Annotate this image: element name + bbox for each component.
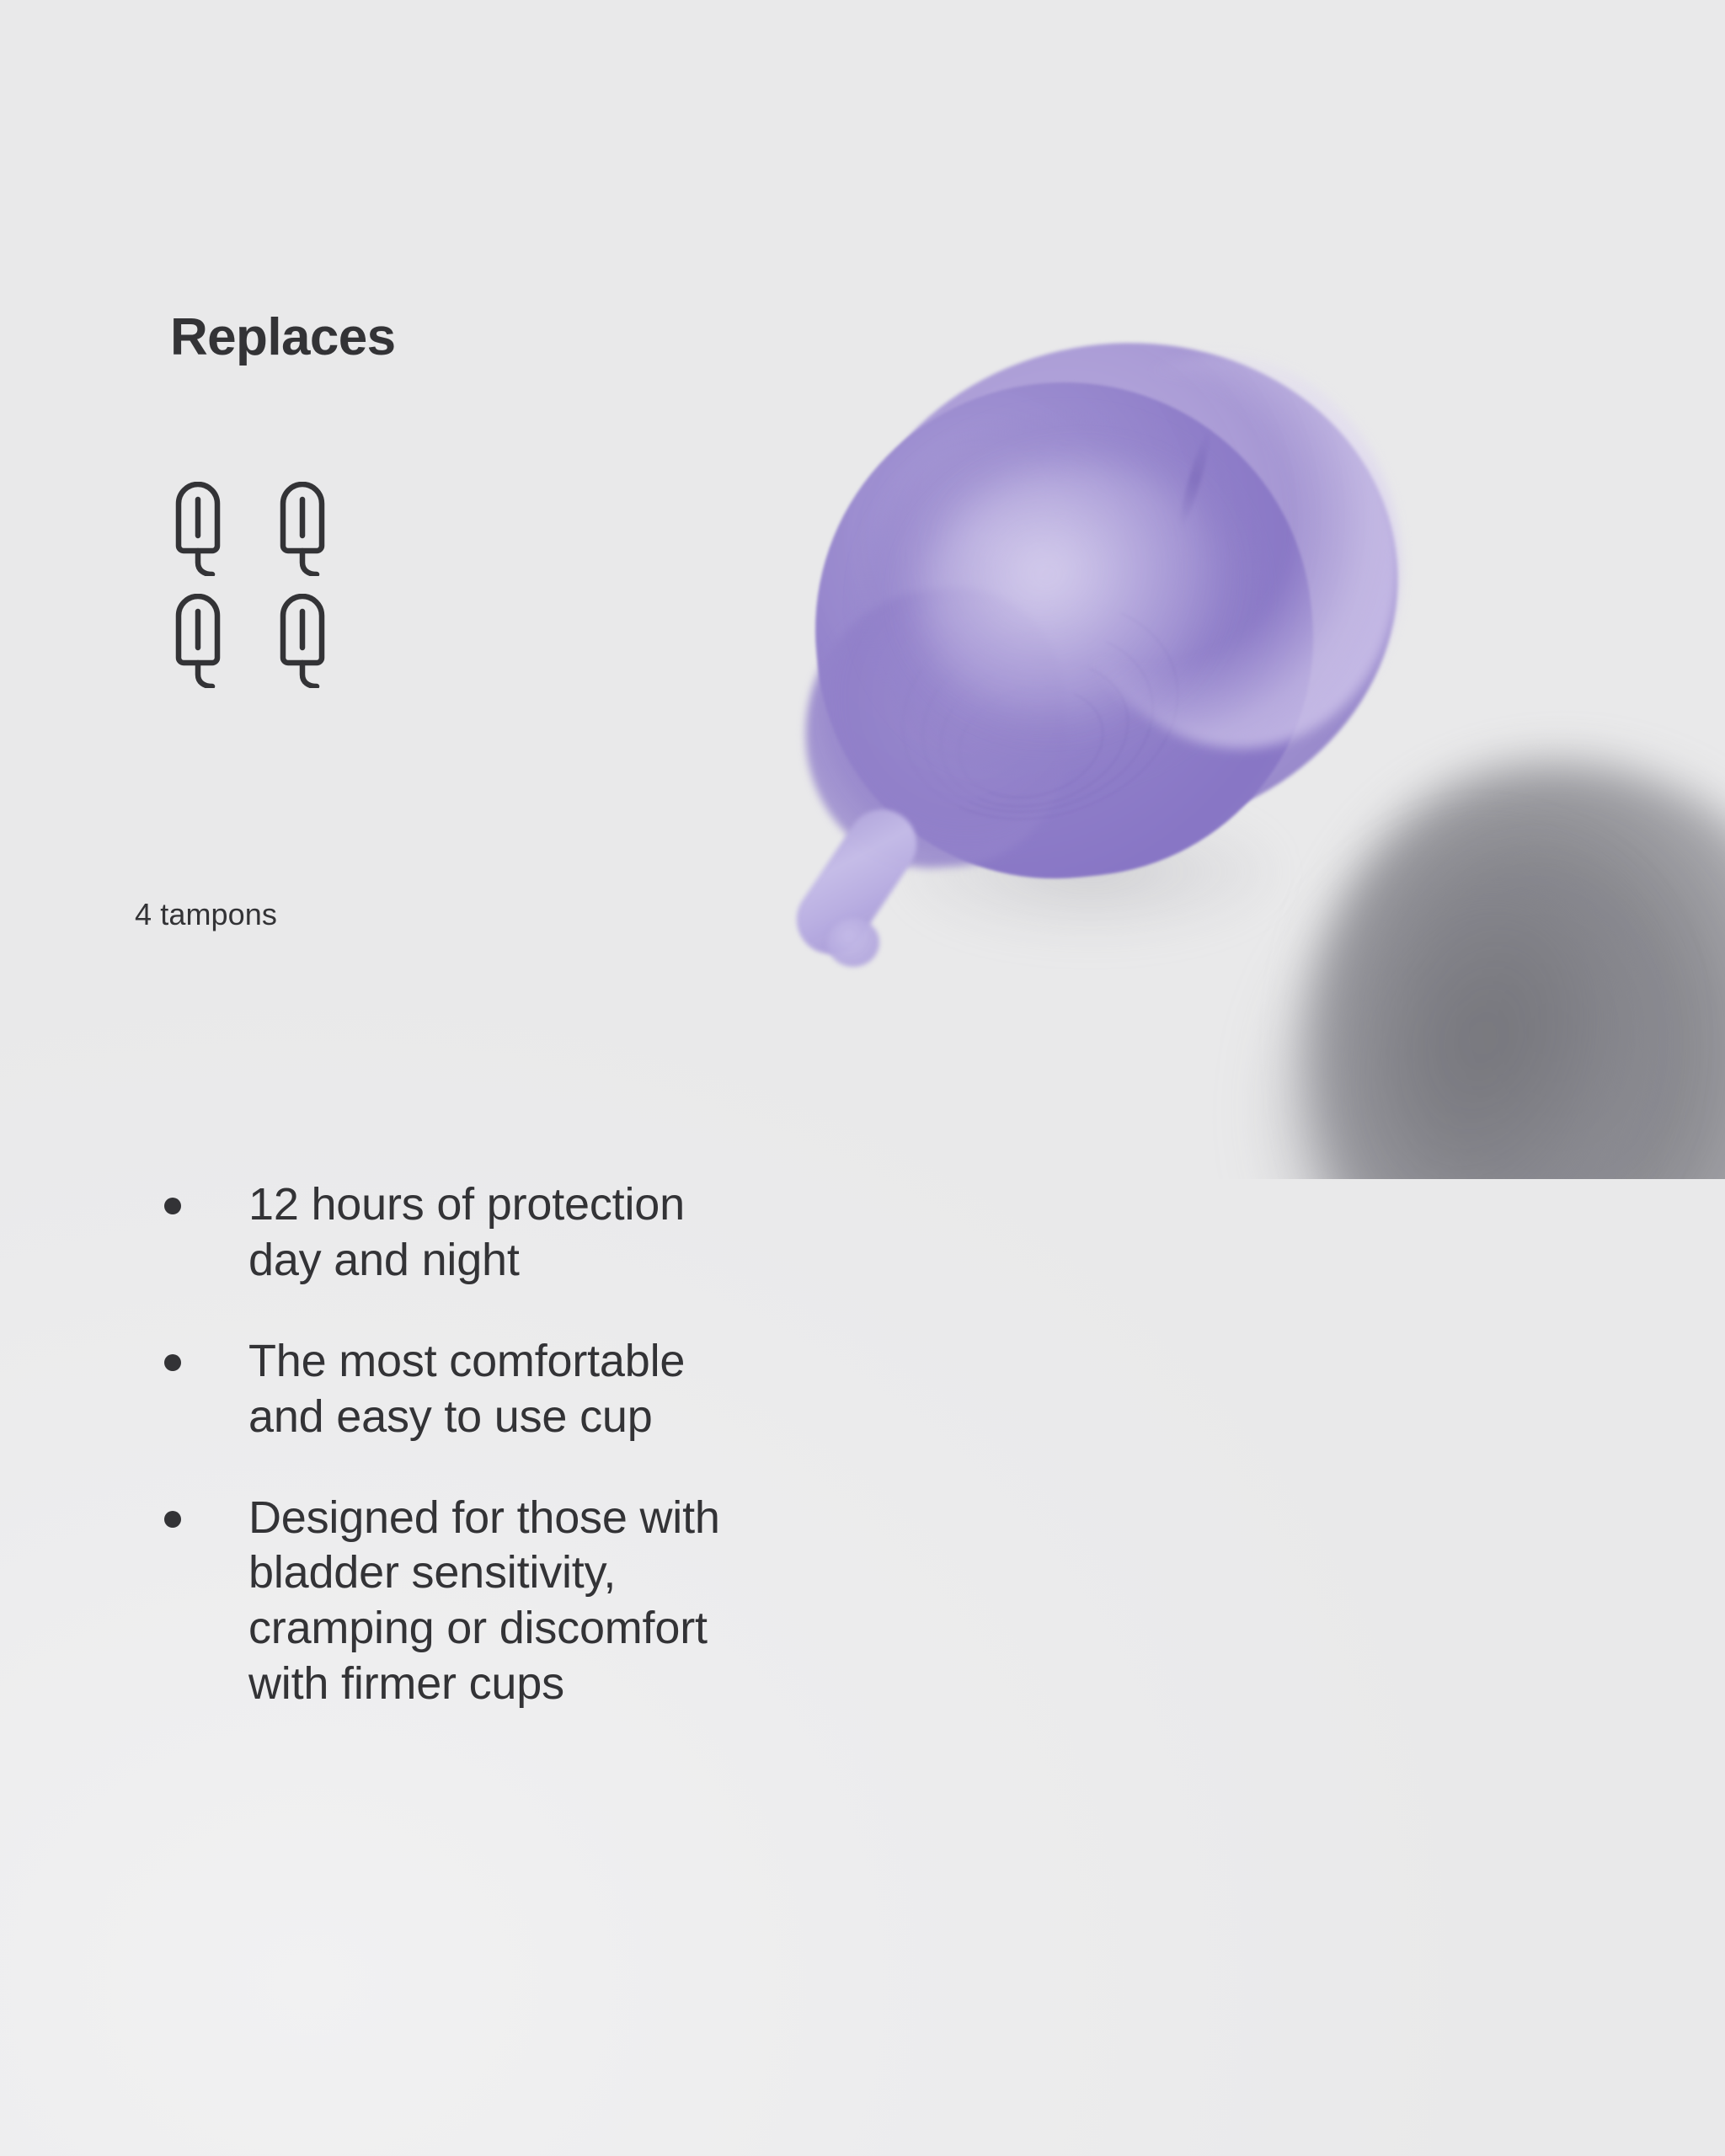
list-item: Designed for those with bladder sensitiv… bbox=[164, 1491, 990, 1713]
bullet-dot-icon bbox=[164, 1354, 181, 1371]
tampon-icon bbox=[273, 594, 337, 688]
bullet-dot-icon bbox=[164, 1511, 181, 1528]
tampon-icon-grid bbox=[168, 482, 362, 706]
list-item: 12 hours of protection day and night bbox=[164, 1177, 990, 1289]
tampon-icon-row bbox=[168, 594, 362, 688]
list-item-label: 12 hours of protection day and night bbox=[248, 1177, 685, 1289]
cup-stem-tip bbox=[827, 918, 879, 967]
feature-bullet-list: 12 hours of protection day and night The… bbox=[164, 1177, 990, 1712]
tampon-icon bbox=[168, 594, 232, 688]
product-feature-card: Replaces bbox=[0, 0, 1725, 2156]
tampon-icon-row bbox=[168, 482, 362, 576]
list-item-label: Designed for those with bladder sensitiv… bbox=[248, 1491, 720, 1713]
list-item: The most comfortable and easy to use cup bbox=[164, 1334, 990, 1445]
bullet-dot-icon bbox=[164, 1198, 181, 1214]
menstrual-cup-illustration bbox=[809, 337, 1432, 977]
tampon-icon bbox=[273, 482, 337, 576]
page-title: Replaces bbox=[170, 312, 395, 364]
replaces-count-label: 4 tampons bbox=[135, 899, 277, 930]
tampon-icon bbox=[168, 482, 232, 576]
list-item-label: The most comfortable and easy to use cup bbox=[248, 1334, 685, 1445]
